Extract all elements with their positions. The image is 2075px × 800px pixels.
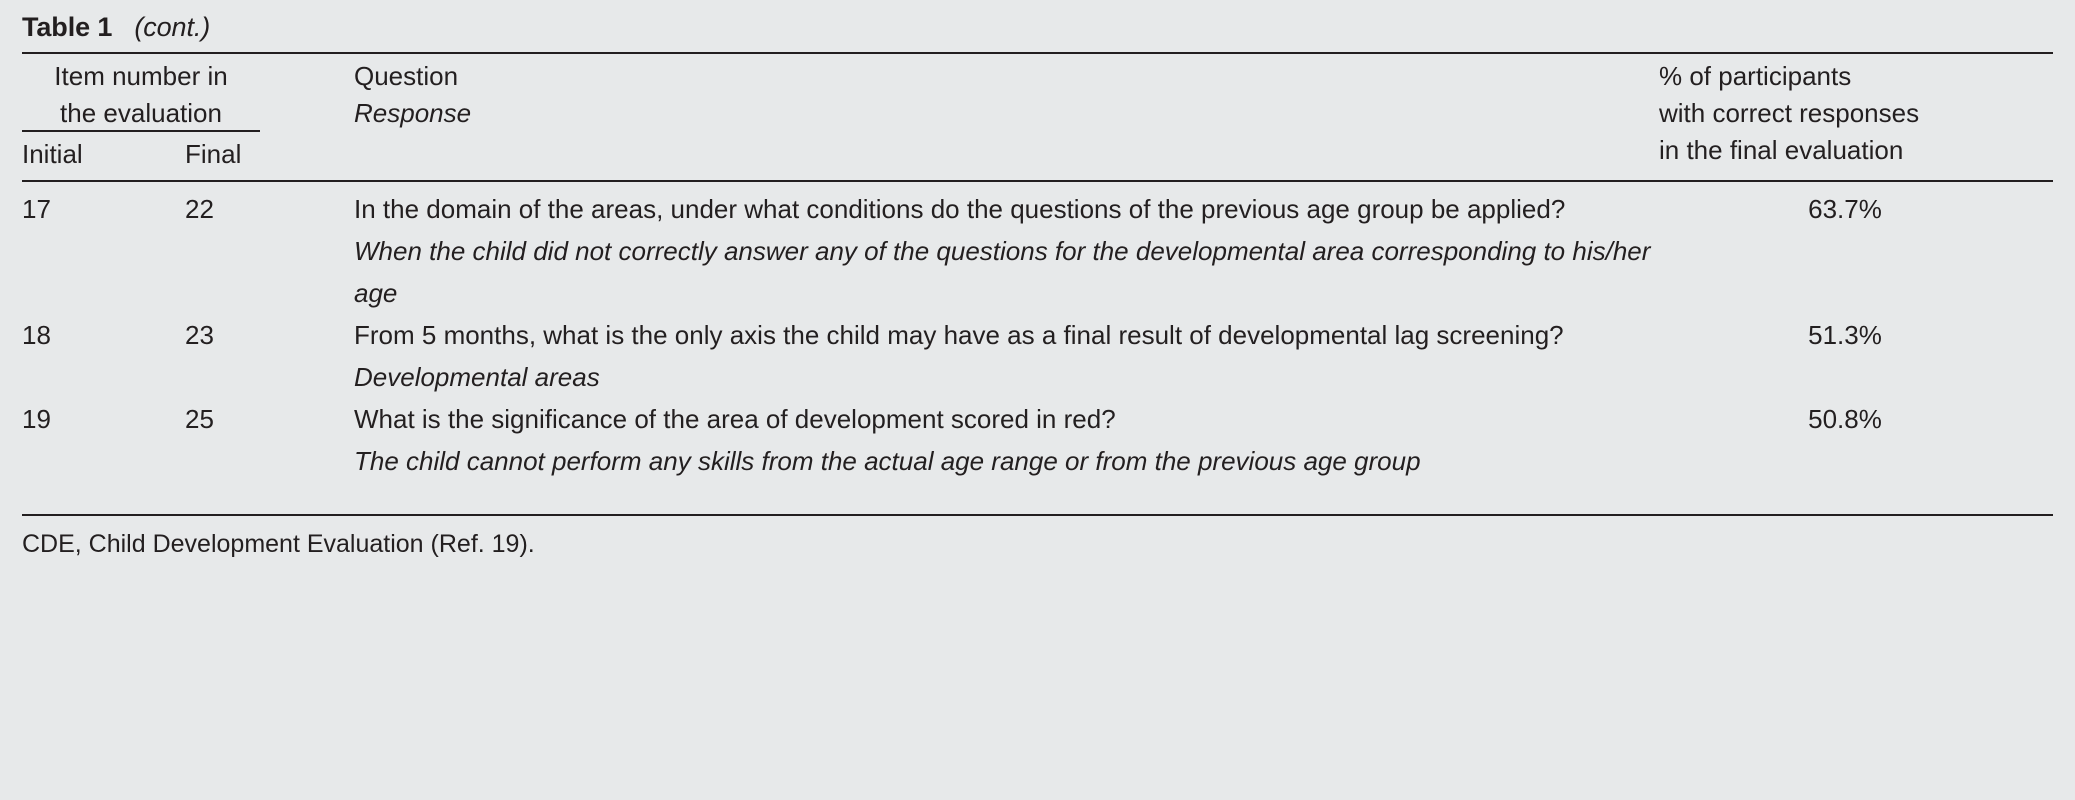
table-row: 19 25 What is the significance of the ar… bbox=[0, 398, 2075, 482]
percent-header-line-2: with correct responses bbox=[1659, 98, 1919, 128]
cell-question: From 5 months, what is the only axis the… bbox=[354, 314, 1655, 398]
percent-header-line-3: in the final evaluation bbox=[1659, 135, 1903, 165]
cell-initial: 19 bbox=[22, 398, 51, 440]
table-footnote: CDE, Child Development Evaluation (Ref. … bbox=[22, 526, 535, 562]
cell-final: 25 bbox=[185, 398, 214, 440]
question-text: In the domain of the areas, under what c… bbox=[354, 188, 1655, 230]
cell-question: In the domain of the areas, under what c… bbox=[354, 188, 1655, 314]
cell-final: 22 bbox=[185, 188, 214, 230]
cell-final: 23 bbox=[185, 314, 214, 356]
cell-question: What is the significance of the area of … bbox=[354, 398, 1655, 482]
cell-percent: 51.3% bbox=[1755, 314, 1935, 356]
cell-percent: 50.8% bbox=[1755, 398, 1935, 440]
table-caption: Table 1(cont.) bbox=[22, 12, 210, 43]
table-row: 18 23 From 5 months, what is the only ax… bbox=[0, 314, 2075, 398]
response-text: When the child did not correctly answer … bbox=[354, 230, 1655, 314]
question-text: From 5 months, what is the only axis the… bbox=[354, 314, 1655, 356]
table-caption-label: Table 1 bbox=[22, 12, 112, 42]
cell-percent: 63.7% bbox=[1755, 188, 1935, 230]
column-header-initial: Initial bbox=[22, 139, 83, 170]
response-text: Developmental areas bbox=[354, 356, 1655, 398]
table-top-rule bbox=[22, 52, 2053, 54]
table-1-container: Table 1(cont.) Item number in the evalua… bbox=[0, 0, 2075, 800]
header-body-rule bbox=[22, 180, 2053, 182]
percent-header-line-1: % of participants bbox=[1659, 61, 1851, 91]
question-header-label: Question bbox=[354, 61, 458, 91]
item-number-line-2: the evaluation bbox=[60, 98, 222, 128]
response-header-label: Response bbox=[354, 98, 471, 128]
column-header-item-number: Item number in the evaluation bbox=[22, 58, 260, 132]
table-bottom-rule bbox=[22, 514, 2053, 516]
response-text: The child cannot perform any skills from… bbox=[354, 440, 1655, 482]
table-body: 17 22 In the domain of the areas, under … bbox=[0, 188, 2075, 482]
table-caption-continued: (cont.) bbox=[134, 12, 210, 42]
column-header-final: Final bbox=[185, 139, 241, 170]
column-header-question: Question Response bbox=[354, 58, 471, 132]
question-text: What is the significance of the area of … bbox=[354, 398, 1655, 440]
item-number-subheader-rule bbox=[22, 130, 260, 132]
item-number-line-1: Item number in bbox=[54, 61, 227, 91]
cell-initial: 17 bbox=[22, 188, 51, 230]
table-row: 17 22 In the domain of the areas, under … bbox=[0, 188, 2075, 314]
column-header-percent: % of participants with correct responses… bbox=[1659, 58, 1919, 169]
cell-initial: 18 bbox=[22, 314, 51, 356]
